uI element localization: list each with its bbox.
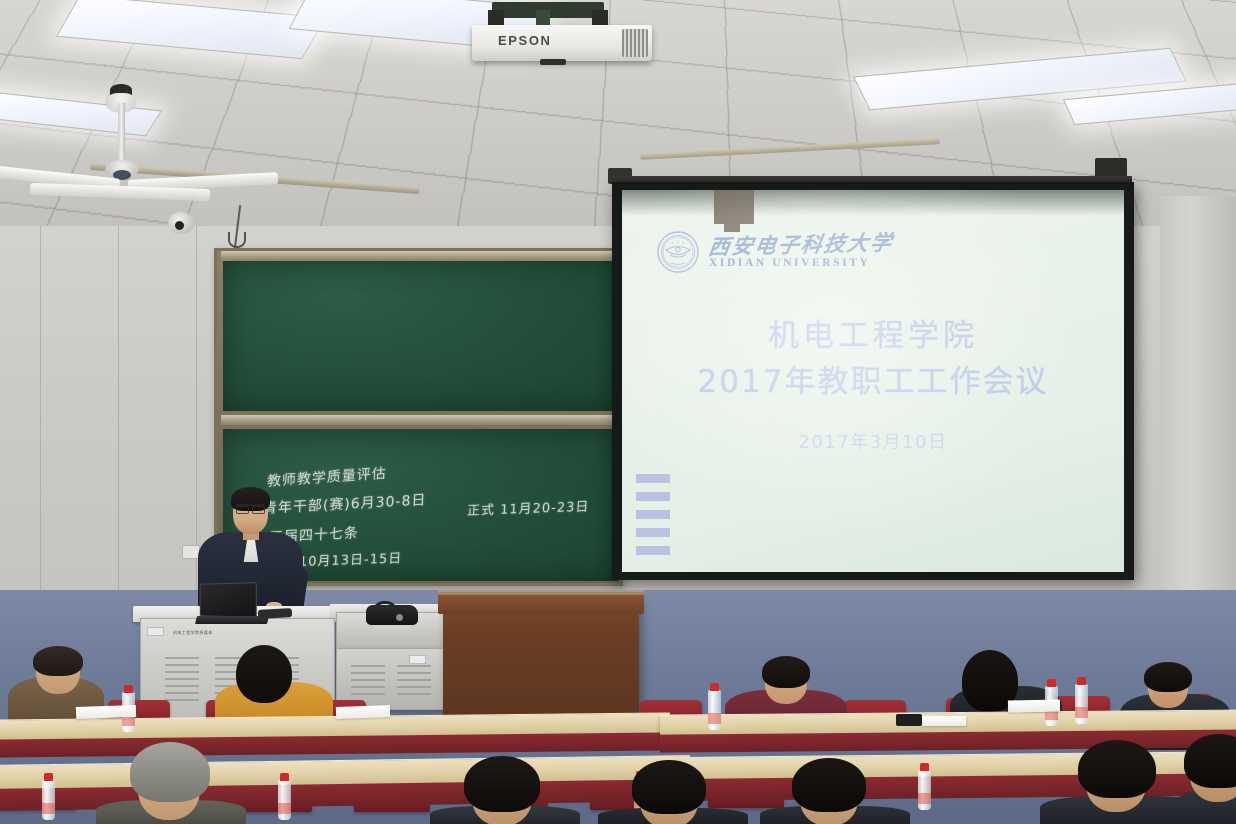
attendee-hair	[632, 760, 706, 814]
lecture-hall-photo: EPSON 教师教学质量评估 青年干部(赛)6月30-8日 正式 11月20-2…	[0, 0, 1236, 824]
projector-lens-foot	[540, 59, 566, 65]
mobile-phone	[896, 714, 922, 726]
wall-seam	[118, 226, 119, 592]
attendee-hair	[1144, 662, 1192, 692]
blackboard-upper-panel	[223, 259, 618, 411]
blackboard-top-ledge	[221, 251, 620, 261]
cabinet-label: 机电工程学院多媒体	[173, 630, 213, 636]
wall-cable-loop	[228, 232, 246, 248]
university-name-english: XIDIAN UNIVERSITY	[709, 258, 893, 270]
projector-vent	[622, 29, 648, 57]
camera-lens-icon	[175, 221, 184, 230]
projected-slide: 西安电子科技大学 XIDIAN UNIVERSITY 机电工程学院 2017年教…	[622, 190, 1124, 572]
deco-bar	[636, 492, 670, 501]
laptop-screen	[200, 582, 257, 618]
wall-seam	[40, 226, 41, 592]
projector-body: EPSON	[472, 25, 652, 61]
deco-bar	[636, 474, 670, 483]
handout-paper	[1008, 700, 1060, 713]
xidian-university-emblem-icon	[656, 230, 700, 274]
slide-title-line2: 2017年教职工工作会议	[622, 356, 1124, 401]
university-logo: 西安电子科技大学 XIDIAN UNIVERSITY	[656, 230, 893, 274]
slide-date: 2017年3月10日	[622, 428, 1124, 454]
handout-paper	[922, 716, 966, 726]
wall-seam	[196, 226, 197, 592]
handout-paper	[76, 705, 136, 719]
projector-shadow	[714, 190, 754, 224]
slide-title-line1: 机电工程学院	[622, 310, 1124, 355]
attendee-hair	[792, 758, 866, 812]
lectern-body	[443, 597, 639, 731]
deco-bar	[636, 528, 670, 537]
projection-screen: 西安电子科技大学 XIDIAN UNIVERSITY 机电工程学院 2017年教…	[612, 182, 1134, 580]
slide-top-shadow	[622, 190, 1124, 216]
water-bottle	[1075, 684, 1088, 724]
cabinet-tag	[147, 627, 164, 636]
microphone-on-desk	[258, 608, 292, 619]
fan-rod	[118, 103, 125, 165]
water-bottle	[708, 690, 721, 730]
chalk-line: 10月13日-15日	[299, 547, 403, 570]
wall-pillar	[1160, 196, 1236, 596]
handout-paper	[336, 705, 390, 719]
attendee-hair	[762, 656, 810, 688]
university-name-chinese: 西安电子科技大学	[707, 232, 895, 258]
projector-brand-label: EPSON	[498, 33, 552, 48]
deco-bar	[636, 546, 670, 555]
cabinet-vent	[351, 665, 385, 697]
glasses-icon	[236, 504, 265, 510]
slide-decoration-bars	[636, 474, 670, 555]
bag-body	[366, 605, 418, 625]
deco-bar	[636, 510, 670, 519]
water-bottle	[42, 780, 55, 820]
attendee-hair	[130, 742, 210, 802]
blackboard-middle-ledge	[221, 415, 620, 425]
water-bottle	[918, 770, 931, 810]
cabinet-tag	[409, 655, 426, 664]
water-bottle	[278, 780, 291, 820]
attendee-hair	[1078, 740, 1156, 798]
cabinet-vent	[165, 657, 199, 703]
lectern-top	[438, 592, 644, 614]
attendee-hair	[464, 756, 540, 812]
attendee-hair-ponytail	[236, 645, 292, 703]
bag-clip	[396, 614, 403, 621]
cabinet-vent	[397, 665, 431, 697]
attendee-hair	[33, 646, 83, 676]
lectern-top-edge	[438, 590, 644, 595]
